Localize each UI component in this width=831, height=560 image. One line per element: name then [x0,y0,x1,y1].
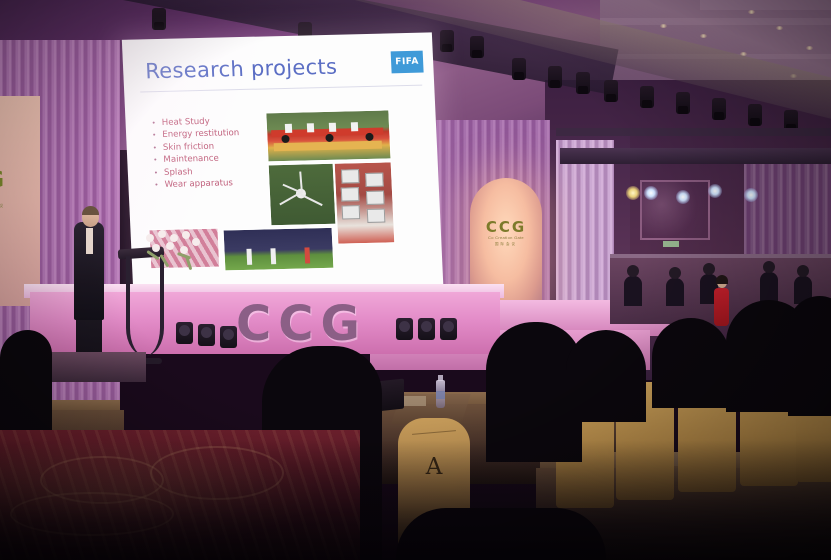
stage-floor-light [198,324,215,346]
banner-chinese-text: 会 议 [0,203,6,209]
ccg-panel-subtitle: Co Creation Gate [470,235,542,240]
audience-silhouette [652,318,730,408]
stage-floor-light [396,318,413,340]
moving-head-light [440,30,454,52]
stage-light-beam [708,184,722,198]
moving-head-light [676,92,690,114]
exit-sign [663,241,679,247]
slide-bullet-list: Heat Study Energy restitution Skin frict… [151,115,241,191]
stage-light-beam [676,190,690,204]
stage-light-beam [626,186,640,200]
banner-left: G ess 会 议 [0,96,40,306]
ceiling-band [600,18,831,25]
attendee [760,272,778,302]
moving-head-light [548,66,562,88]
fifa-logo: FIFA [391,51,424,74]
audience-silhouette [566,330,646,422]
ceiling-downlight [748,10,755,14]
audience-silhouette [788,296,831,416]
ccg-panel-logo-text: CCG [470,218,542,236]
moving-head-light [152,8,166,30]
stage-ccg-letters: CCG [236,296,367,352]
list-item: Energy restitution [152,127,240,142]
slide-photo-players [223,227,335,272]
slide-title: Research projects [145,55,338,84]
foreground-shadow [0,440,831,560]
stage-floor-light [220,326,237,348]
banner-logo-text: G [0,168,5,193]
moving-head-light [470,36,484,58]
slide-photo-tray-samples [334,161,396,244]
moving-head-light [748,104,762,126]
moving-head-light [712,98,726,120]
stage-floor-light [440,318,457,340]
moving-head-light [512,58,526,80]
slide-photo-spider-device [268,163,337,227]
water-bottle [436,380,445,408]
moving-head-light [604,80,618,102]
speaker-shirt [86,228,93,254]
ceiling-downlight [776,26,783,30]
conference-photo: G ess 会 议 CCG Co Creation Gate 国际会议 Rese… [0,0,831,560]
stage-light-beam [744,188,758,202]
stage-light-beam [644,186,658,200]
list-item: Wear apparatus [154,177,242,192]
lighting-truss-horizontal [560,148,831,164]
attendee [624,276,642,306]
lighting-truss-horizontal-upper [556,128,831,136]
stage-floor-light [418,318,435,340]
ceiling-downlight [700,34,707,38]
moving-head-light [576,72,590,94]
ceiling-band [700,0,831,10]
ceiling-downlight [660,24,667,28]
ceiling-downlight [806,46,813,50]
stage-riser [36,352,146,382]
floral-arrangement [140,228,202,280]
stage-floor-light [176,322,193,344]
attendee-red-dress [714,288,729,326]
ccg-panel-chinese-text: 国际会议 [470,242,542,247]
attendee [666,278,684,306]
moving-head-light [640,86,654,108]
slide-photo-test-rig [265,109,391,162]
